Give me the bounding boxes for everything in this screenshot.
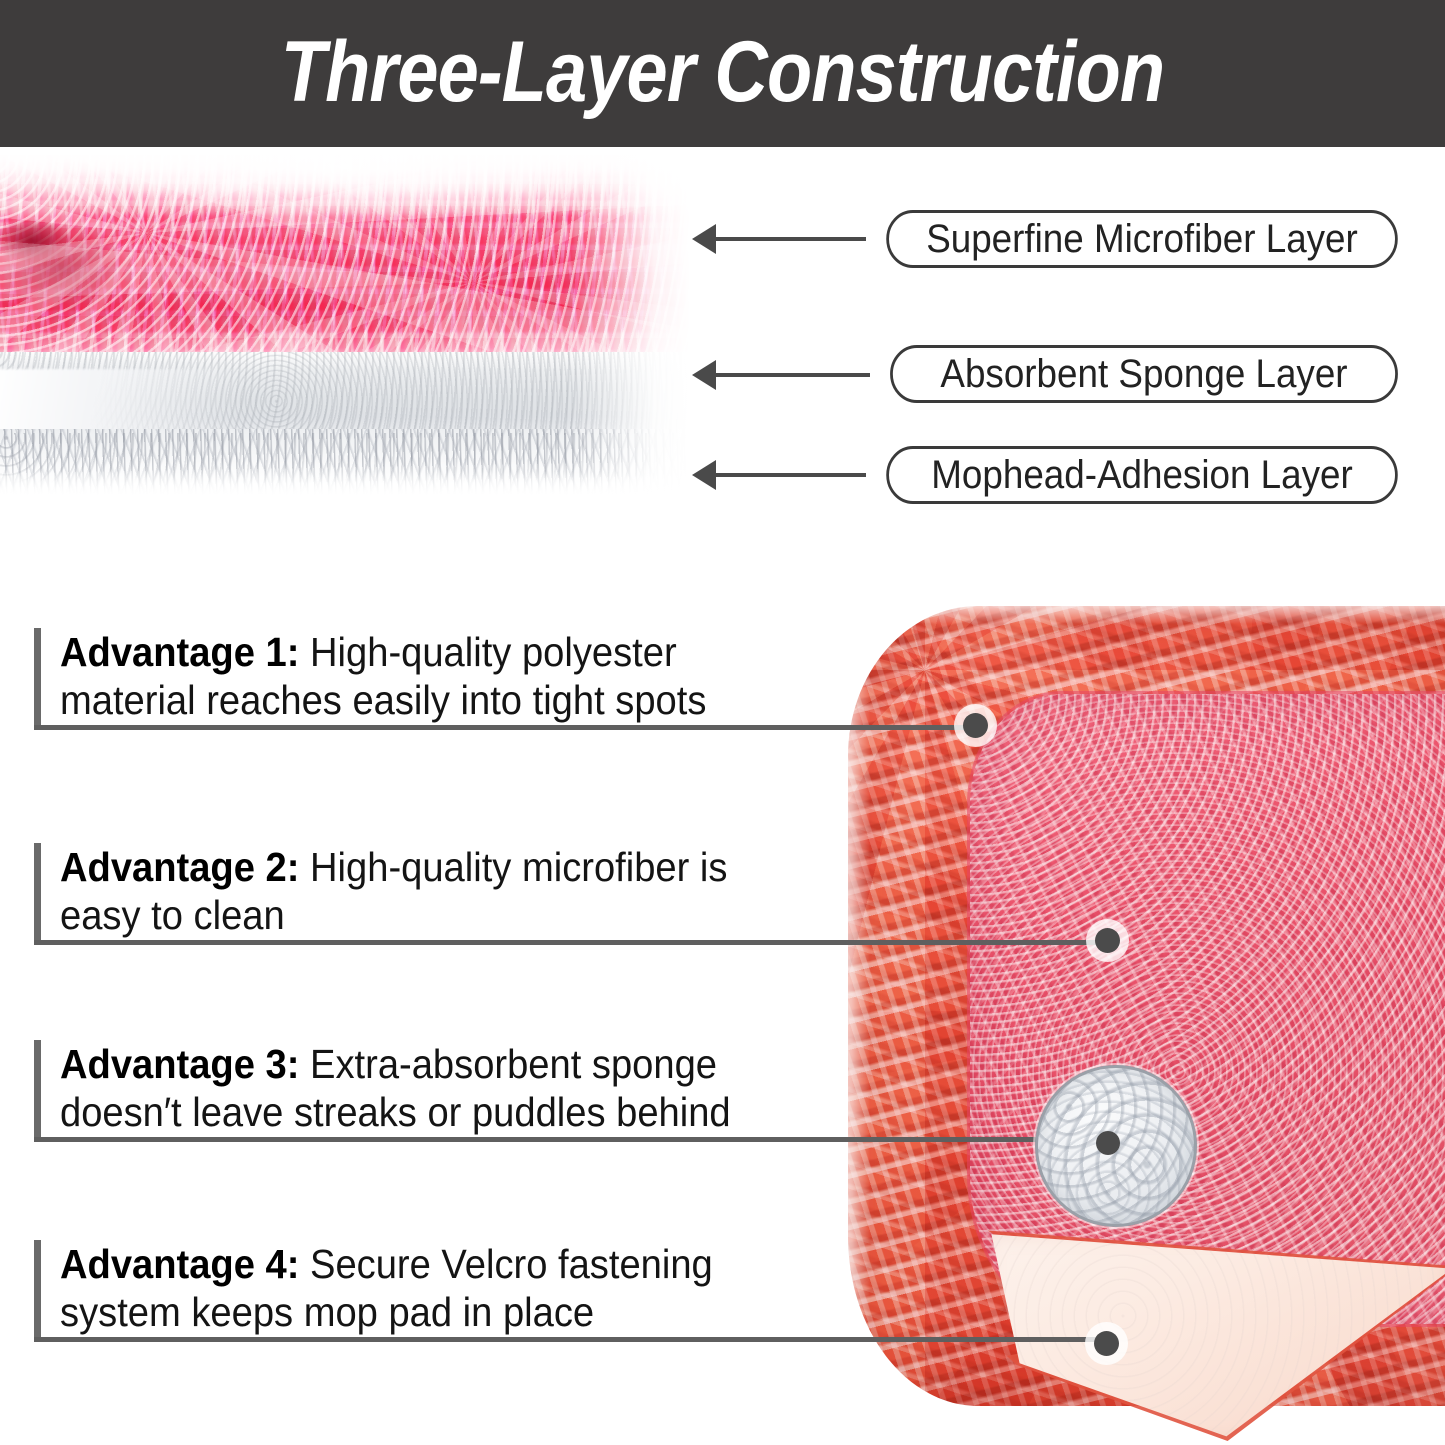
advantage-accent-bar [34, 843, 41, 942]
callout-label-absorbent-sponge[interactable]: Absorbent Sponge Layer [890, 345, 1398, 403]
arrow-left-icon [692, 460, 716, 490]
photo-bottom-fade [0, 471, 690, 517]
arrow-left-icon [692, 360, 716, 390]
advantage-text-3: Advantage 3: Extra-absorbent sponge does… [60, 1040, 748, 1137]
advantage-text-4: Advantage 4: Secure Velcro fastening sys… [60, 1240, 748, 1337]
marker-dot-icon-2 [1095, 928, 1120, 953]
marker-dot-icon-3 [1096, 1131, 1120, 1155]
arrow-left-icon [692, 224, 716, 254]
marker-dot-icon-1 [963, 713, 988, 738]
marker-dot-icon-4 [1094, 1331, 1119, 1356]
advantage-block-2: Advantage 2: High-quality microfiber is … [34, 843, 1154, 948]
advantage-block-4: Advantage 4: Secure Velcro fastening sys… [34, 1240, 1154, 1345]
advantage-title-1: Advantage 1: [60, 629, 299, 675]
callout-label-mophead-adhesion[interactable]: Mophead-Adhesion Layer [886, 446, 1398, 504]
advantage-title-2: Advantage 2: [60, 844, 299, 890]
advantage-text-2: Advantage 2: High-quality microfiber is … [60, 843, 748, 940]
microfiber-terry-pad [970, 694, 1445, 1324]
advantage-underline [34, 940, 1107, 945]
page-title: Three-Layer Construction [101, 0, 1344, 147]
advantage-underline [34, 725, 975, 730]
infographic-canvas: Three-Layer Construction Superfine Micro… [0, 0, 1445, 1445]
advantage-title-4: Advantage 4: [60, 1241, 299, 1287]
product-top-fade [830, 598, 1445, 624]
advantage-title-3: Advantage 3: [60, 1041, 299, 1087]
callout-leader-line [714, 373, 870, 377]
advantage-block-3: Advantage 3: Extra-absorbent sponge does… [34, 1040, 1154, 1145]
advantage-accent-bar [34, 1240, 41, 1339]
advantage-accent-bar [34, 628, 41, 727]
cross-section-photo [0, 147, 690, 517]
advantage-accent-bar [34, 1040, 41, 1139]
callout-leader-line [714, 237, 866, 241]
advantage-underline [34, 1337, 1106, 1342]
callout-leader-line [714, 473, 866, 477]
advantage-text-1: Advantage 1: High-quality polyester mate… [60, 628, 748, 725]
photo-right-fade [570, 147, 690, 517]
advantage-underline [34, 1137, 1104, 1142]
header-bar: Three-Layer Construction [0, 0, 1445, 147]
callout-label-superfine-microfiber[interactable]: Superfine Microfiber Layer [886, 210, 1398, 268]
advantage-block-1: Advantage 1: High-quality polyester mate… [34, 628, 1034, 733]
